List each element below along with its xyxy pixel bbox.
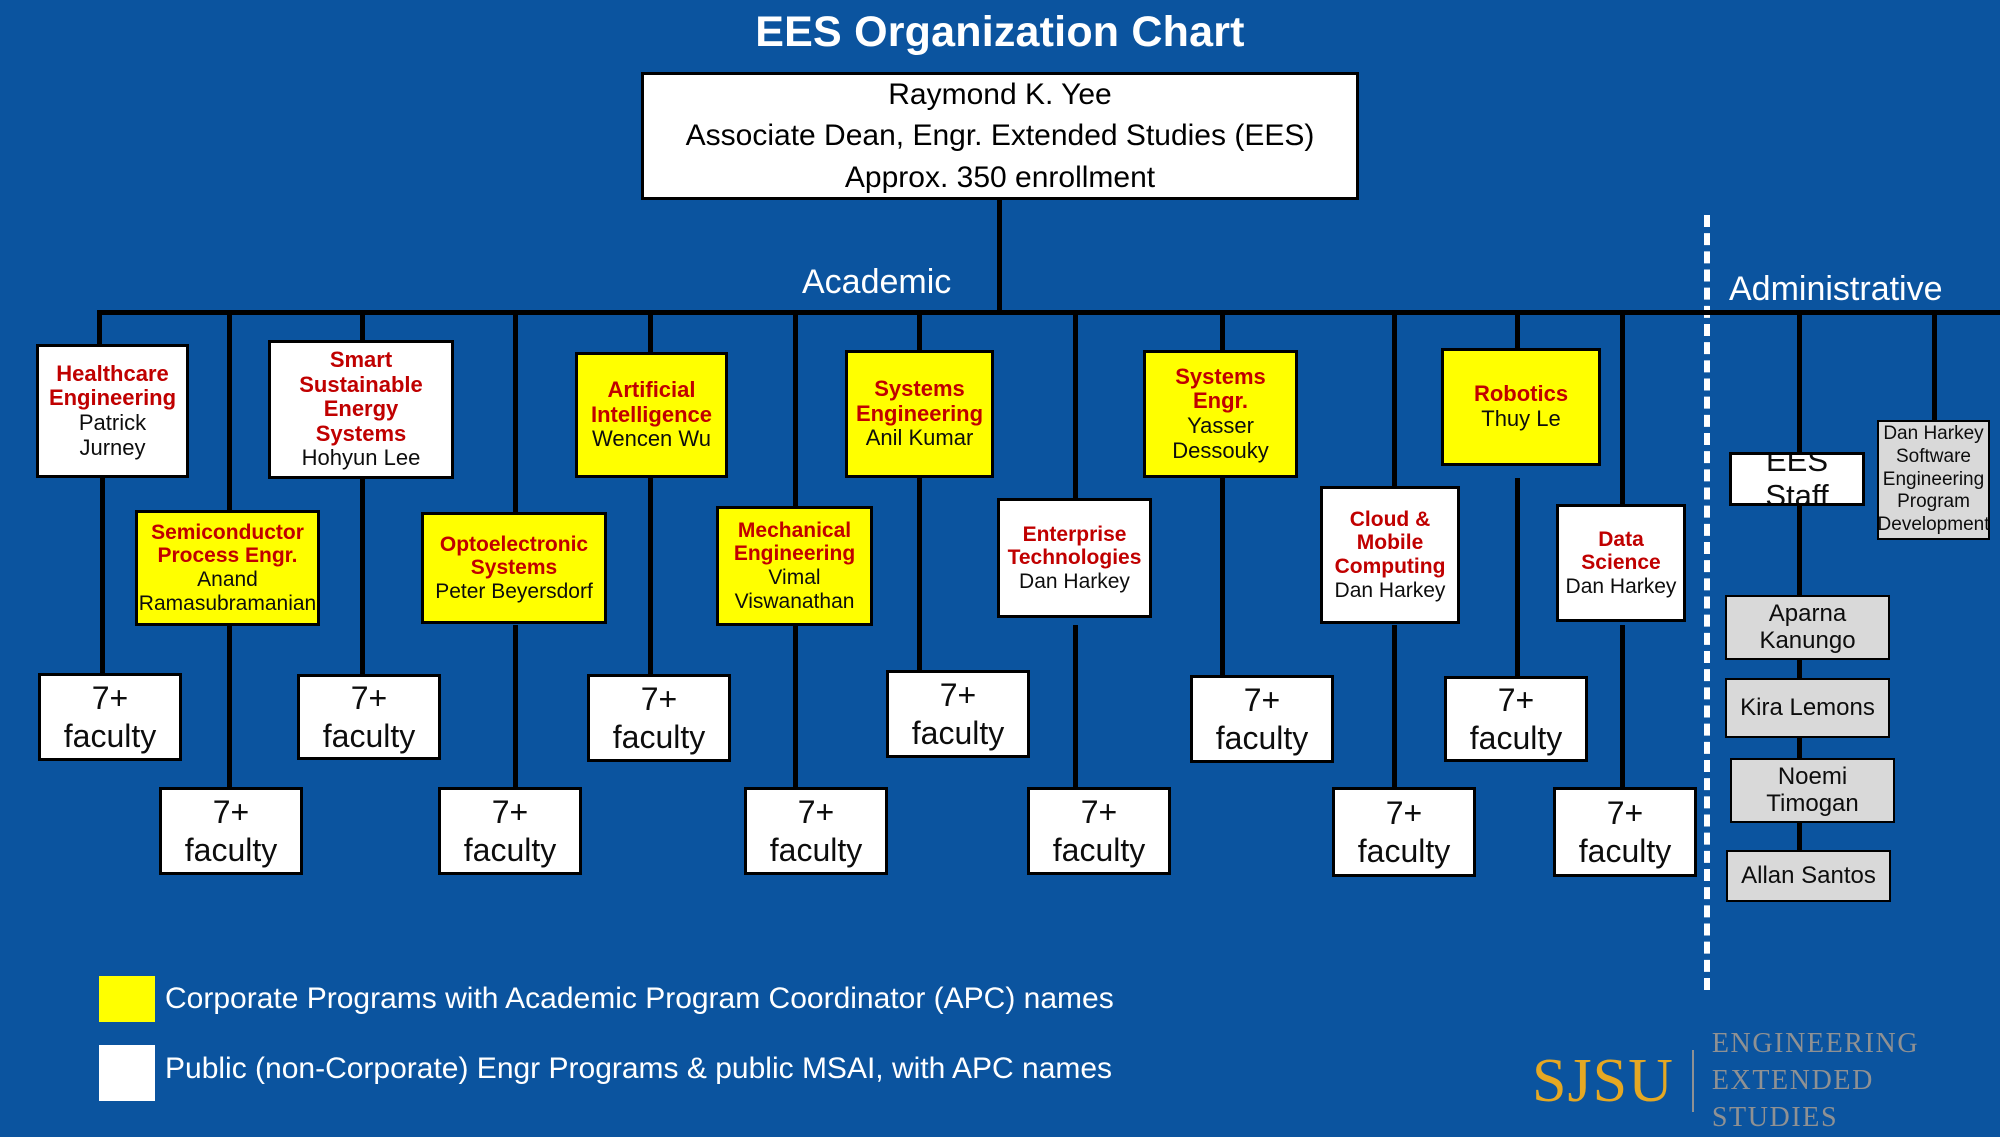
staff-box-allan-santos[interactable]: Allan Santos — [1726, 850, 1891, 902]
program-coordinator: Patrick Jurney — [43, 411, 182, 460]
program-box-artificial-intelligence[interactable]: Artificial Intelligence Wencen Wu — [575, 352, 728, 478]
faculty-count: 7+ — [92, 679, 128, 717]
connector-root-stem — [997, 200, 1002, 313]
program-box-systems-engineering[interactable]: Systems Engineering Anil Kumar — [845, 350, 994, 478]
academic-administrative-divider — [1704, 215, 1710, 990]
connector-prog8-faculty — [1073, 625, 1078, 787]
faculty-count: 7+ — [798, 793, 834, 831]
org-chart-canvas: EES Organization Chart Raymond K. Yee As… — [0, 0, 2000, 1125]
faculty-box: 7+ faculty — [38, 673, 182, 761]
program-box-semiconductor-process-engr[interactable]: Semiconductor Process Engr. Anand Ramasu… — [135, 510, 320, 626]
connector-prog7-faculty — [917, 478, 922, 673]
logo-divider — [1692, 1050, 1694, 1112]
branch-label-academic: Academic — [802, 263, 951, 302]
faculty-word: faculty — [1216, 719, 1308, 757]
program-box-robotics[interactable]: Robotics Thuy Le — [1441, 348, 1601, 466]
root-title: Associate Dean, Engr. Extended Studies (… — [686, 115, 1315, 156]
branch-label-administrative: Administrative — [1729, 270, 1943, 309]
faculty-count: 7+ — [940, 676, 976, 714]
connector-drop-11 — [1515, 310, 1520, 350]
staff-box-aparna-kanungo[interactable]: Aparna Kanungo — [1725, 595, 1890, 660]
program-name: Enterprise Technologies — [1003, 523, 1146, 570]
staff-name-line1: Allan Santos — [1741, 863, 1876, 890]
program-coordinator: Dan Harkey — [1335, 579, 1446, 603]
connector-administrative-bus — [1704, 310, 2000, 315]
connector-drop-10 — [1392, 310, 1397, 488]
legend-swatch-public — [98, 1044, 156, 1102]
program-coordinator: Dan Harkey — [1019, 570, 1130, 594]
program-box-healthcare-engineering[interactable]: Healthcare Engineering Patrick Jurney — [36, 344, 189, 478]
program-name: Mechanical Engineering — [722, 519, 867, 566]
connector-prog4-faculty — [513, 625, 518, 787]
program-name: Semiconductor Process Engr. — [141, 521, 314, 568]
faculty-word: faculty — [770, 831, 862, 869]
faculty-word: faculty — [185, 831, 277, 869]
program-coordinator: Anand Ramasubramanian — [139, 568, 316, 615]
faculty-box: 7+ faculty — [1190, 675, 1334, 763]
connector-academic-bus — [97, 310, 1707, 315]
program-box-mechanical-engineering[interactable]: Mechanical Engineering Vimal Viswanathan — [716, 506, 873, 626]
program-name: Optoelectronic Systems — [428, 533, 600, 580]
program-box-cloud-mobile-computing[interactable]: Cloud & Mobile Computing Dan Harkey — [1320, 486, 1460, 624]
legend-label-public: Public (non-Corporate) Engr Programs & p… — [165, 1052, 1112, 1086]
program-name: Healthcare Engineering — [43, 362, 182, 411]
page-title: EES Organization Chart — [0, 8, 2000, 57]
program-coordinator: Dan Harkey — [1566, 575, 1677, 599]
program-box-enterprise-technologies[interactable]: Enterprise Technologies Dan Harkey — [997, 498, 1152, 618]
staff-name-line2: Kanungo — [1759, 628, 1855, 655]
faculty-word: faculty — [464, 831, 556, 869]
ees-staff-box[interactable]: EES Staff — [1729, 452, 1865, 506]
program-name: Artificial Intelligence — [582, 378, 721, 427]
ees-staff-label: EES Staff — [1732, 452, 1862, 506]
program-name: Systems Engineering — [852, 377, 987, 426]
connector-drop-12 — [1620, 310, 1625, 506]
program-box-smart-sustainable-energy-systems[interactable]: Smart Sustainable Energy Systems Hohyun … — [268, 340, 454, 479]
program-coordinator: Anil Kumar — [866, 426, 974, 451]
program-coordinator: Yasser Dessouky — [1150, 414, 1291, 463]
program-name: Cloud & Mobile Computing — [1326, 508, 1454, 579]
program-coordinator: Wencen Wu — [592, 427, 711, 452]
connector-admin-progdev — [1932, 310, 1937, 420]
program-box-systems-engr[interactable]: Systems Engr. Yasser Dessouky — [1143, 350, 1298, 478]
connector-prog11-faculty — [1515, 478, 1520, 676]
connector-admin-spine-staff — [1797, 505, 1802, 595]
logo-subtitle: ENGINEERING EXTENDED STUDIES — [1712, 1026, 2000, 1137]
faculty-box: 7+ faculty — [1027, 787, 1171, 875]
faculty-count: 7+ — [1244, 681, 1280, 719]
faculty-box: 7+ faculty — [744, 787, 888, 875]
root-node-associate-dean: Raymond K. Yee Associate Dean, Engr. Ext… — [641, 72, 1359, 200]
faculty-word: faculty — [1053, 831, 1145, 869]
faculty-count: 7+ — [492, 793, 528, 831]
program-development-box[interactable]: Dan Harkey Software Engineering Program … — [1877, 420, 1990, 540]
progdev-line-2: Software — [1896, 446, 1971, 469]
connector-drop-2 — [227, 310, 232, 511]
faculty-box: 7+ faculty — [1553, 787, 1697, 877]
program-coordinator: Vimal Viswanathan — [722, 566, 867, 613]
staff-name-line1: Noemi — [1778, 764, 1847, 791]
faculty-count: 7+ — [213, 793, 249, 831]
connector-prog10-faculty — [1392, 625, 1397, 787]
legend-label-corporate: Corporate Programs with Academic Program… — [165, 982, 1114, 1016]
program-box-data-science[interactable]: Data Science Dan Harkey — [1556, 504, 1686, 622]
progdev-line-1: Dan Harkey — [1883, 423, 1983, 446]
faculty-word: faculty — [912, 714, 1004, 752]
program-coordinator: Thuy Le — [1481, 407, 1561, 432]
connector-drop-9 — [1220, 310, 1225, 350]
root-name: Raymond K. Yee — [888, 74, 1112, 115]
faculty-box: 7+ faculty — [1444, 676, 1588, 762]
program-coordinator: Hohyun Lee — [302, 446, 421, 471]
progdev-line-5: Development — [1878, 514, 1990, 537]
staff-name-line1: Aparna — [1769, 601, 1846, 628]
faculty-word: faculty — [1470, 719, 1562, 757]
logo-subtitle-line2: EXTENDED STUDIES — [1712, 1063, 2000, 1137]
faculty-word: faculty — [1358, 832, 1450, 870]
connector-prog6-faculty — [793, 625, 798, 787]
program-coordinator: Peter Beyersdorf — [435, 580, 593, 604]
staff-name-line1: Kira Lemons — [1740, 695, 1875, 722]
legend-swatch-corporate — [98, 975, 156, 1023]
program-box-optoelectronic-systems[interactable]: Optoelectronic Systems Peter Beyersdorf — [421, 512, 607, 624]
program-name: Robotics — [1474, 382, 1568, 407]
connector-drop-6 — [793, 310, 798, 508]
connector-prog9-faculty — [1220, 478, 1225, 675]
connector-drop-7 — [917, 310, 922, 350]
faculty-word: faculty — [64, 717, 156, 755]
connector-drop-5 — [648, 310, 653, 352]
faculty-count: 7+ — [351, 679, 387, 717]
program-name: Smart Sustainable Energy Systems — [276, 348, 446, 447]
program-name: Data Science — [1562, 528, 1680, 575]
faculty-word: faculty — [1579, 832, 1671, 870]
connector-admin-spine-top — [1797, 310, 1802, 452]
connector-prog2-faculty — [227, 625, 232, 787]
program-name: Systems Engr. — [1150, 365, 1291, 414]
staff-name-line2: Timogan — [1766, 791, 1858, 818]
faculty-word: faculty — [323, 717, 415, 755]
faculty-word: faculty — [613, 718, 705, 756]
connector-drop-1 — [97, 310, 102, 348]
connector-drop-4 — [513, 310, 518, 512]
sjsu-wordmark: SJSU — [1532, 1050, 1674, 1112]
progdev-line-4: Program — [1897, 491, 1970, 514]
connector-prog12-faculty — [1620, 625, 1625, 787]
root-enrollment: Approx. 350 enrollment — [845, 157, 1155, 198]
connector-drop-8 — [1073, 310, 1078, 500]
faculty-count: 7+ — [1081, 793, 1117, 831]
faculty-box: 7+ faculty — [1332, 787, 1476, 877]
connector-prog1-faculty — [100, 478, 105, 673]
connector-prog3-faculty — [360, 479, 365, 674]
faculty-box: 7+ faculty — [297, 674, 441, 760]
faculty-count: 7+ — [1607, 794, 1643, 832]
faculty-box: 7+ faculty — [159, 787, 303, 875]
connector-prog5-faculty — [648, 478, 653, 674]
faculty-count: 7+ — [1386, 794, 1422, 832]
progdev-line-3: Engineering — [1883, 469, 1984, 492]
logo-subtitle-line1: ENGINEERING — [1712, 1026, 2000, 1063]
faculty-box: 7+ faculty — [587, 674, 731, 762]
staff-box-kira-lemons[interactable]: Kira Lemons — [1725, 678, 1890, 738]
connector-drop-3 — [360, 310, 365, 340]
faculty-box: 7+ faculty — [886, 670, 1030, 758]
faculty-count: 7+ — [1498, 681, 1534, 719]
staff-box-noemi-timogan[interactable]: Noemi Timogan — [1730, 758, 1895, 823]
faculty-box: 7+ faculty — [438, 787, 582, 875]
sjsu-logo: SJSU ENGINEERING EXTENDED STUDIES — [1532, 1026, 2000, 1137]
faculty-count: 7+ — [641, 680, 677, 718]
